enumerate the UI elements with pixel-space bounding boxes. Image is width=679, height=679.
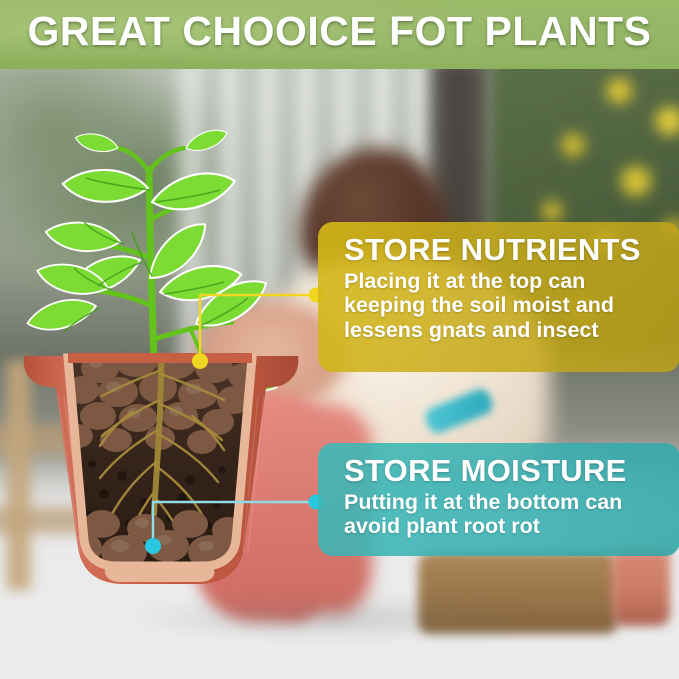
background-small-pot xyxy=(612,548,670,626)
infographic-poster: GREAT CHOOICE FOT PLANTS xyxy=(0,0,679,679)
background-floor-shadow xyxy=(120,596,540,640)
callout-body-moisture: Putting it at the bottom can avoid plant… xyxy=(344,490,662,539)
pot-base-edge xyxy=(105,566,215,582)
callout-title-nutrients: STORE NUTRIENTS xyxy=(344,234,662,267)
header-banner: GREAT CHOOICE FOT PLANTS xyxy=(0,0,679,69)
page-title: GREAT CHOOICE FOT PLANTS xyxy=(0,8,679,55)
callout-title-moisture: STORE MOISTURE xyxy=(344,455,662,488)
callout-store-moisture[interactable]: STORE MOISTURE Putting it at the bottom … xyxy=(318,443,679,556)
callout-body-nutrients: Placing it at the top can keeping the so… xyxy=(344,269,662,343)
callout-store-nutrients[interactable]: STORE NUTRIENTS Placing it at the top ca… xyxy=(318,222,679,372)
pot-cutaway xyxy=(12,352,312,597)
